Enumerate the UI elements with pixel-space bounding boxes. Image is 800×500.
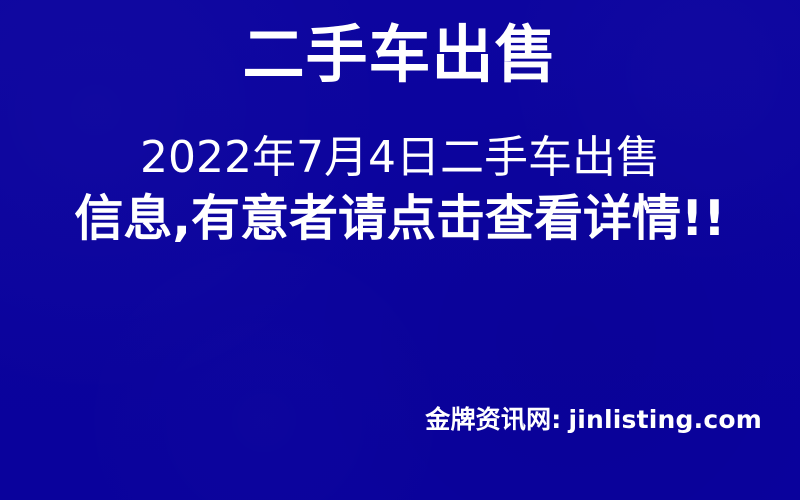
footer-credit: 金牌资讯网:jinlisting.com (425, 400, 762, 436)
page-title: 二手车出售 (0, 22, 800, 89)
poster-content: 二手车出售 2022年7月4日二手车出售 信息,有意者请点击查看详情!! 金牌资… (0, 0, 800, 500)
used-car-sale-poster: 二手车出售 2022年7月4日二手车出售 信息,有意者请点击查看详情!! 金牌资… (0, 0, 800, 500)
footer-site-domain: jinlisting.com (568, 405, 762, 434)
announcement-line-2: 信息,有意者请点击查看详情!! (0, 192, 800, 247)
announcement-body: 2022年7月4日二手车出售 信息,有意者请点击查看详情!! (0, 133, 800, 246)
announcement-line-1: 2022年7月4日二手车出售 (0, 133, 800, 184)
footer-site-label: 金牌资讯网: (425, 405, 561, 434)
